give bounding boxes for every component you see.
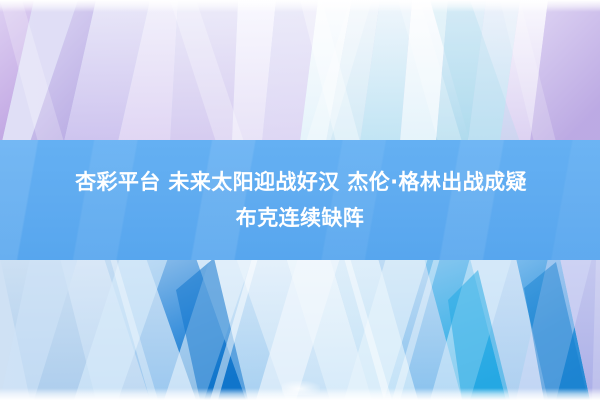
background-top-ribbons (0, 0, 600, 142)
background-bottom-ribbons (0, 258, 600, 400)
headline-line-1: 杏彩平台 未来太阳迎战好汉 杰伦·格林出战成疑 (0, 167, 600, 197)
headline-line-2: 布克连续缺阵 (236, 203, 364, 233)
banner-image: 杏彩平台 未来太阳迎战好汉 杰伦·格林出战成疑 布克连续缺阵 (0, 0, 600, 400)
headline-text-block: 杏彩平台 未来太阳迎战好汉 杰伦·格林出战成疑 布克连续缺阵 (0, 140, 600, 260)
